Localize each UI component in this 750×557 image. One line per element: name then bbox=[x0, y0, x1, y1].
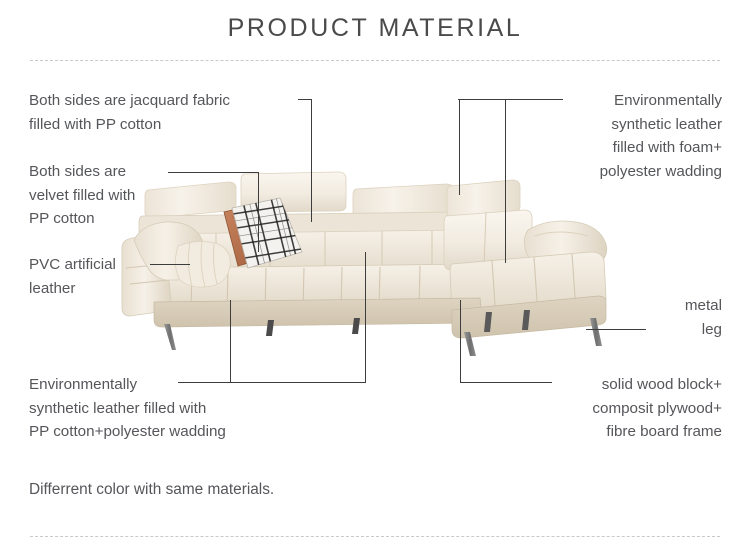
label-jacquard-fabric: Both sides are jacquard fabric filled wi… bbox=[29, 89, 301, 136]
leader-envleather-v2 bbox=[365, 252, 366, 383]
product-material-infographic: PRODUCT MATERIAL bbox=[0, 0, 750, 557]
label-frame-construction: solid wood block+ composit plywood+ fibr… bbox=[522, 373, 722, 444]
caption-color-note: Differrent color with same materials. bbox=[29, 478, 429, 502]
label-metal-leg: metal leg bbox=[632, 294, 722, 341]
leader-frame-v bbox=[460, 300, 461, 383]
label-pvc-artificial-leather: PVC artificial leather bbox=[29, 253, 159, 300]
divider-top bbox=[30, 60, 720, 61]
label-velvet: Both sides are velvet filled with PP cot… bbox=[29, 160, 179, 231]
label-environmental-leather: Environmentally synthetic leather filled… bbox=[29, 373, 319, 444]
divider-bottom bbox=[30, 536, 720, 537]
metal-leg-front-left bbox=[164, 324, 176, 350]
leader-jacquard-v bbox=[311, 99, 312, 222]
leader-foam-v2 bbox=[505, 99, 506, 263]
leader-envleather-v1 bbox=[230, 300, 231, 383]
leader-velvet-v bbox=[258, 172, 259, 252]
page-title: PRODUCT MATERIAL bbox=[0, 14, 750, 43]
leader-foam-v1 bbox=[459, 99, 460, 195]
product-image-sectional-sofa bbox=[120, 160, 660, 360]
leader-velvet-h bbox=[168, 172, 259, 173]
label-foam-wadding: Environmentally synthetic leather filled… bbox=[550, 89, 722, 183]
leader-foam-h bbox=[458, 99, 563, 100]
sofa-base-left bbox=[154, 298, 482, 327]
